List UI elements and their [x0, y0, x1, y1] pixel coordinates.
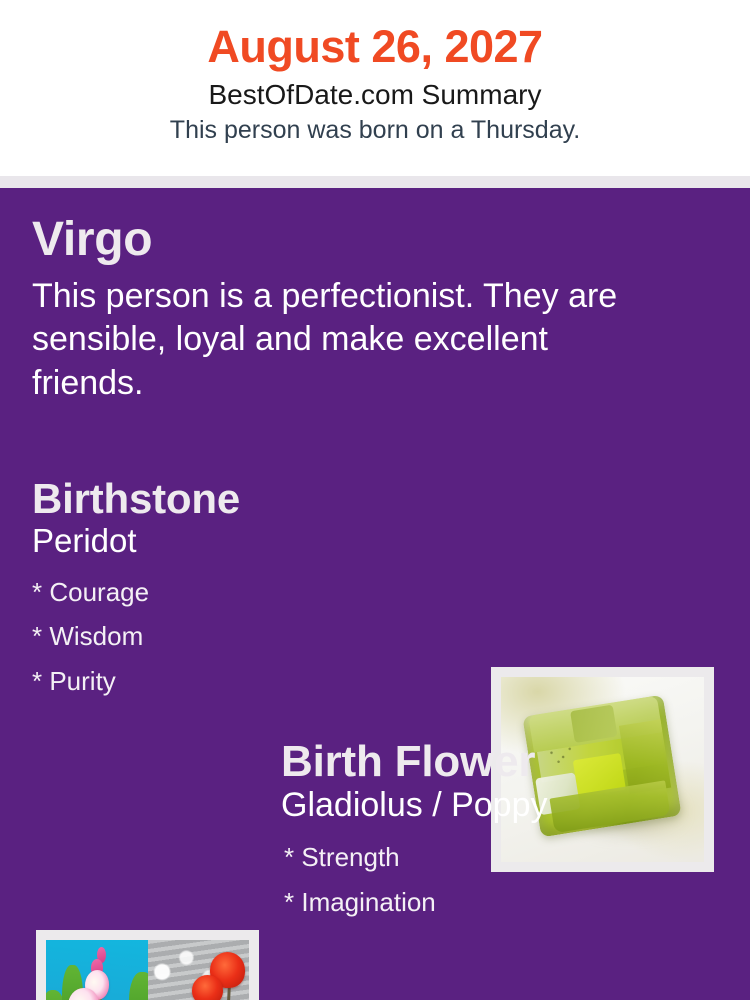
- birthstone-section: Birthstone Peridot * Courage * Wisdom * …: [32, 476, 462, 704]
- flower-split-photo: [46, 940, 249, 1000]
- header-divider: [0, 176, 750, 188]
- birthstone-title: Birthstone: [32, 476, 462, 521]
- poppy-photo-half: [148, 940, 250, 1000]
- zodiac-section: Virgo This person is a perfectionist. Th…: [32, 214, 692, 405]
- birthflower-name: Gladiolus / Poppy: [281, 786, 721, 825]
- birthflower-section: Birth Flower Gladiolus / Poppy * Strengt…: [281, 738, 721, 925]
- list-item: * Imagination: [284, 880, 721, 925]
- birthflower-trait-list: * Strength * Imagination: [281, 835, 721, 925]
- gladiolus-photo-half: [46, 940, 148, 1000]
- summary-card: August 26, 2027 BestOfDate.com Summary T…: [0, 0, 750, 1000]
- list-item: * Wisdom: [32, 614, 462, 659]
- birthstone-trait-list: * Courage * Wisdom * Purity: [32, 570, 462, 704]
- zodiac-description: This person is a perfectionist. They are…: [32, 275, 652, 406]
- birthflower-title: Birth Flower: [281, 738, 721, 786]
- poppy-flower-icon: [192, 975, 222, 1000]
- birthflower-image: [46, 940, 249, 1000]
- birthflower-image-frame: [36, 930, 259, 1000]
- birthstone-name: Peridot: [32, 522, 462, 560]
- zodiac-sign-name: Virgo: [32, 214, 692, 266]
- born-day-line: This person was born on a Thursday.: [0, 117, 750, 145]
- content-panel: Virgo This person is a perfectionist. Th…: [0, 188, 750, 1000]
- list-item: * Courage: [32, 570, 462, 615]
- site-name: BestOfDate.com Summary: [0, 80, 750, 111]
- page-title-date: August 26, 2027: [0, 23, 750, 71]
- card-header: August 26, 2027 BestOfDate.com Summary T…: [0, 0, 750, 176]
- list-item: * Strength: [284, 835, 721, 880]
- list-item: * Purity: [32, 659, 462, 704]
